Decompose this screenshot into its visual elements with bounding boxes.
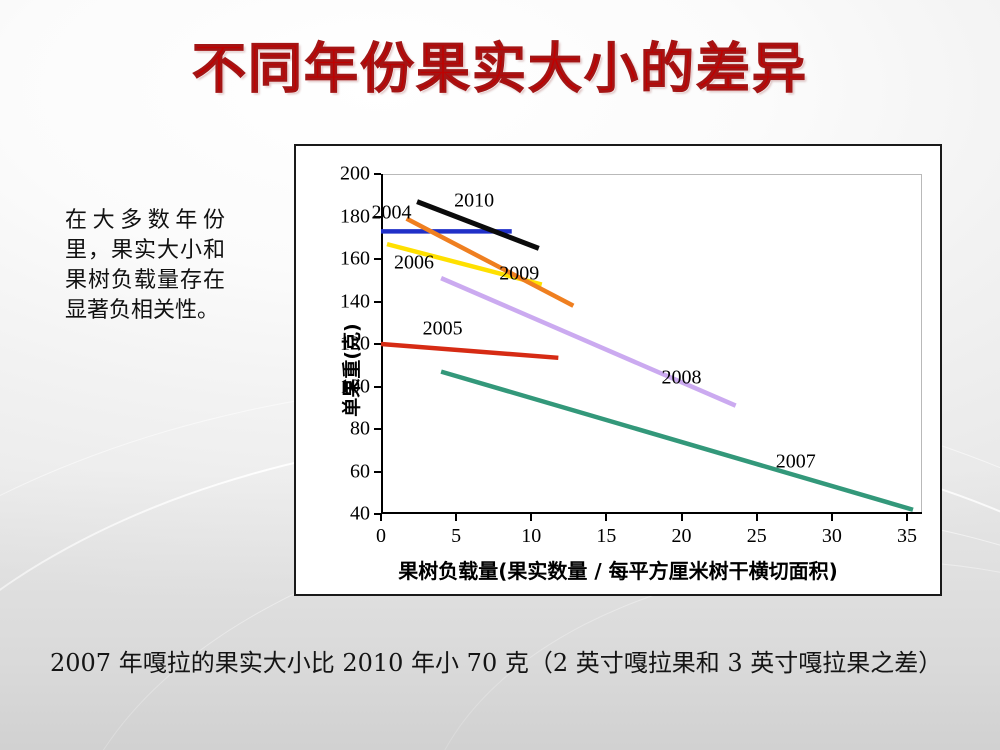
body-paragraph: 在大多数年份里，果实大小和果树负载量存在显著负相关性。 (65, 206, 225, 326)
y-axis-tick-label: 120 (340, 333, 370, 356)
y-axis-tick (374, 173, 381, 175)
y-axis-tick (374, 471, 381, 473)
x-axis-tick (906, 514, 908, 521)
x-axis-tick (380, 514, 382, 521)
x-axis-tick (831, 514, 833, 521)
x-axis-tick-label: 30 (822, 525, 842, 548)
x-axis-tick (455, 514, 457, 521)
y-axis-tick-label: 80 (350, 418, 370, 441)
series-label-2010: 2010 (454, 189, 494, 212)
series-label-2007: 2007 (776, 450, 816, 473)
slide-canvas: 不同年份果实大小的差异 在大多数年份里，果实大小和果树负载量存在显著负相关性。 … (0, 0, 1000, 750)
x-axis-tick (605, 514, 607, 521)
y-axis-tick (374, 428, 381, 430)
chart-container: 单果重(克) 果树负载量(果实数量 / 每平方厘米树干横切面积) 4060801… (294, 144, 942, 596)
chart-x-axis-title: 果树负载量(果实数量 / 每平方厘米树干横切面积) (296, 555, 940, 584)
x-axis-tick-label: 0 (376, 525, 386, 548)
y-axis-tick-label: 160 (340, 248, 370, 271)
series-label-2006: 2006 (394, 252, 434, 275)
series-label-2004: 2004 (372, 202, 412, 225)
y-axis-tick (374, 258, 381, 260)
chart-series-lines (381, 174, 922, 514)
y-axis-tick-label: 40 (350, 503, 370, 526)
slide-caption: 2007 年嘎拉的果实大小比 2010 年小 70 克（2 英寸嘎拉果和 3 英… (24, 645, 979, 681)
x-axis-tick (530, 514, 532, 521)
x-axis-tick-label: 20 (672, 525, 692, 548)
x-axis-tick (681, 514, 683, 521)
y-axis-tick-label: 200 (340, 163, 370, 186)
series-line-2007 (441, 372, 913, 510)
x-axis-tick-label: 35 (897, 525, 917, 548)
y-axis-tick (374, 301, 381, 303)
y-axis-tick-label: 60 (350, 460, 370, 483)
chart-plot-area: 4060801001201401601802000510152025303520… (381, 174, 922, 514)
x-axis-tick-label: 25 (747, 525, 767, 548)
x-axis-tick-label: 15 (596, 525, 616, 548)
x-axis-tick-label: 10 (521, 525, 541, 548)
y-axis-tick-label: 180 (340, 205, 370, 228)
x-axis-tick-label: 5 (451, 525, 461, 548)
series-label-2009: 2009 (499, 262, 539, 285)
caption-text: 2007 年嘎拉的果实大小比 2010 年小 70 克（2 英寸嘎拉果和 3 英… (50, 649, 942, 677)
y-axis-tick-label: 140 (340, 290, 370, 313)
x-axis-tick (756, 514, 758, 521)
series-line-2005 (381, 344, 558, 358)
series-label-2005: 2005 (423, 318, 463, 341)
page-title: 不同年份果实大小的差异 (0, 24, 1000, 103)
y-axis-tick (374, 386, 381, 388)
series-label-2008: 2008 (662, 367, 702, 390)
y-axis-tick-label: 100 (340, 375, 370, 398)
y-axis-tick (374, 343, 381, 345)
